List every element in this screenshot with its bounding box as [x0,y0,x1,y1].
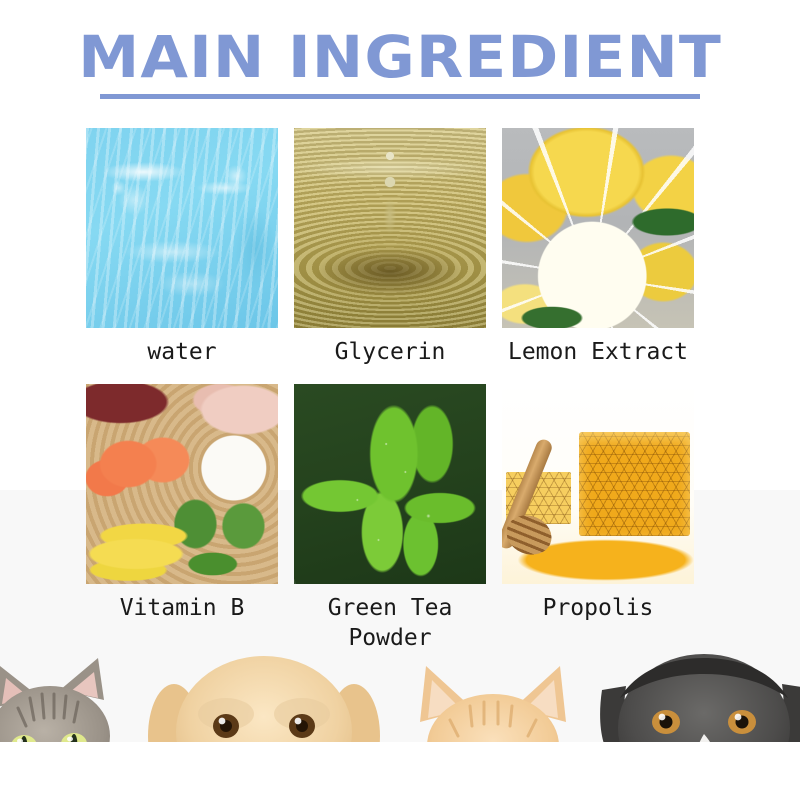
vitamin-b-image [86,384,278,584]
ingredient-label-lemon-extract: Lemon Extract [508,337,688,367]
propolis-image [502,384,694,584]
ingredient-label-glycerin: Glycerin [335,337,446,367]
ingredient-row: water Glycerin Lemon Extract [78,128,702,367]
ingredient-cell-green-tea-powder: Green Tea Powder [286,384,494,653]
ingredient-cell-propolis: Propolis [494,384,702,653]
ingredient-cell-glycerin: Glycerin [286,128,494,367]
green-tea-powder-image [294,384,486,584]
ingredient-label-vitamin-b: Vitamin B [120,593,245,623]
glycerin-image [294,128,486,328]
title-underline [100,94,700,99]
ingredient-label-propolis: Propolis [543,593,654,623]
white-ledge [0,742,800,800]
ingredient-cell-water: water [78,128,286,367]
ingredient-row: Vitamin B Green Tea Powder [78,384,702,653]
water-image [86,128,278,328]
page-title: MAIN INGREDIENT [0,26,800,88]
ingredient-label-water: water [147,337,216,367]
pets-strip [0,625,800,800]
ingredient-grid: water Glycerin Lemon Extract [78,128,702,653]
page-title-wrap: MAIN INGREDIENT [0,26,800,88]
lemon-extract-image [502,128,694,328]
ingredient-cell-vitamin-b: Vitamin B [78,384,286,653]
ingredient-cell-lemon-extract: Lemon Extract [494,128,702,367]
ingredient-infographic: MAIN INGREDIENT water Glycerin [0,0,800,800]
